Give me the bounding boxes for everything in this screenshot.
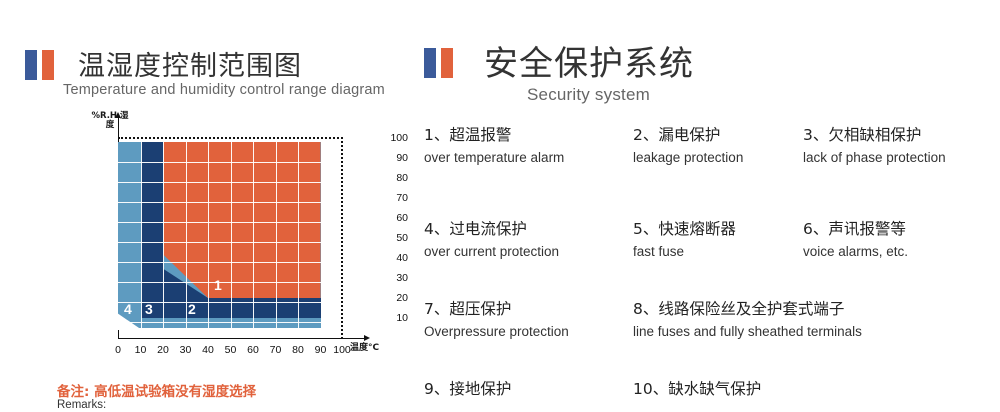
region-1-orange: [163, 142, 321, 298]
marker-blue-bar: [25, 50, 37, 80]
page-root: 温湿度控制范围图 Temperature and humidity contro…: [0, 0, 1000, 412]
marker-orange-bar-2: [441, 48, 453, 78]
feature-1-en: over temperature alarm: [424, 148, 564, 167]
plot-area: 1 2 3 4: [118, 138, 343, 338]
feature-item-5: 5、快速熔断器 fast fuse: [633, 219, 736, 261]
x-tick-50: 50: [219, 344, 243, 356]
feature-8-en: line fuses and fully sheathed terminals: [633, 322, 862, 341]
marker-blue-bar-2: [424, 48, 436, 78]
x-axis-line: [118, 338, 366, 339]
humidity-temperature-chart: %R.H 湿度 温度°C 100 90 80 70 60 50 40 30 20…: [78, 112, 408, 370]
feature-10-cn: 10、缺水缺气保护: [633, 379, 761, 399]
feature-7-cn: 7、超压保护: [424, 299, 569, 319]
region-label-1: 1: [214, 278, 222, 292]
x-tick-70: 70: [264, 344, 288, 356]
y-tick-40: 40: [374, 252, 408, 264]
x-tick-40: 40: [196, 344, 220, 356]
remark-en: Remarks:: [57, 399, 106, 411]
x-tick-0: 0: [106, 344, 130, 356]
feature-2-en: leakage protection: [633, 148, 743, 167]
gridline-h-90: [118, 162, 321, 163]
x-tick-30: 30: [174, 344, 198, 356]
left-title-cn: 温湿度控制范围图: [78, 44, 302, 83]
region-2-dark-blue-column: [141, 142, 164, 298]
gridline-h-10: [118, 322, 321, 323]
feature-2-cn: 2、漏电保护: [633, 125, 743, 145]
feature-item-4: 4、过电流保护 over current protection: [424, 219, 559, 261]
y-tick-70: 70: [374, 192, 408, 204]
gridline-v-30: [186, 142, 187, 328]
gridline-v-70: [276, 142, 277, 328]
region-label-4: 4: [124, 302, 132, 316]
y-tick-30: 30: [374, 272, 408, 284]
feature-item-6: 6、声讯报警等 voice alarms, etc.: [803, 219, 908, 261]
remark-cn: 备注: 高低温试验箱没有湿度选择: [57, 380, 256, 400]
x-axis-unit-label: 温度°C: [350, 340, 379, 353]
y-tick-50: 50: [374, 232, 408, 244]
feature-1-cn: 1、超温报警: [424, 125, 564, 145]
gridline-v-80: [298, 142, 299, 328]
feature-3-en: lack of phase protection: [803, 148, 946, 167]
left-marker: [25, 50, 54, 80]
y-tick-100: 100: [374, 132, 408, 144]
gridline-h-60: [118, 222, 321, 223]
y-tick-80: 80: [374, 172, 408, 184]
gridline-v-10: [141, 142, 142, 328]
feature-6-en: voice alarms, etc.: [803, 242, 908, 261]
x-tick-90: 90: [309, 344, 333, 356]
y-tick-20: 20: [374, 292, 408, 304]
feature-7-en: Overpressure protection: [424, 322, 569, 341]
gridline-h-40: [118, 262, 321, 263]
y-tick-60: 60: [374, 212, 408, 224]
y-tick-10: 10: [374, 312, 408, 324]
feature-8-cn: 8、线路保险丝及全护套式端子: [633, 299, 862, 319]
x-tick-80: 80: [286, 344, 310, 356]
x-axis-arrow-icon: [364, 335, 370, 341]
x-tick-100: 100: [330, 344, 354, 356]
y-axis-arrow-icon: [115, 112, 121, 118]
feature-item-10: 10、缺水缺气保护: [633, 379, 761, 402]
right-title-en: Security system: [527, 85, 650, 105]
marker-orange-bar: [42, 50, 54, 80]
feature-3-cn: 3、欠相缺相保护: [803, 125, 946, 145]
feature-item-7: 7、超压保护 Overpressure protection: [424, 299, 569, 341]
gridline-h-80: [118, 182, 321, 183]
boundary-top-dotted: [118, 137, 343, 139]
gridline-v-20: [163, 142, 164, 328]
feature-item-2: 2、漏电保护 leakage protection: [633, 125, 743, 167]
x-tick-60: 60: [241, 344, 265, 356]
right-title-cn: 安全保护系统: [484, 36, 694, 85]
feature-4-en: over current protection: [424, 242, 559, 261]
gridline-v-40: [208, 142, 209, 328]
feature-item-1: 1、超温报警 over temperature alarm: [424, 125, 564, 167]
feature-5-en: fast fuse: [633, 242, 736, 261]
feature-6-cn: 6、声讯报警等: [803, 219, 908, 239]
feature-item-9: 9、接地保护: [424, 379, 511, 402]
left-title-en: Temperature and humidity control range d…: [63, 82, 385, 98]
x-tick-10: 10: [129, 344, 153, 356]
boundary-right-dotted: [341, 137, 343, 339]
y-tick-90: 90: [374, 152, 408, 164]
feature-item-3: 3、欠相缺相保护 lack of phase protection: [803, 125, 946, 167]
feature-4-cn: 4、过电流保护: [424, 219, 559, 239]
feature-9-cn: 9、接地保护: [424, 379, 511, 399]
gridline-h-50: [118, 242, 321, 243]
gridline-v-60: [253, 142, 254, 328]
region-label-2: 2: [188, 302, 196, 316]
feature-item-8: 8、线路保险丝及全护套式端子 line fuses and fully shea…: [633, 299, 862, 341]
region-label-3: 3: [145, 302, 153, 316]
x-tick-20: 20: [151, 344, 175, 356]
feature-5-cn: 5、快速熔断器: [633, 219, 736, 239]
right-marker: [424, 48, 453, 78]
y-axis-unit-label: %R.H 湿度: [90, 112, 130, 130]
gridline-h-70: [118, 202, 321, 203]
gridline-v-50: [231, 142, 232, 328]
